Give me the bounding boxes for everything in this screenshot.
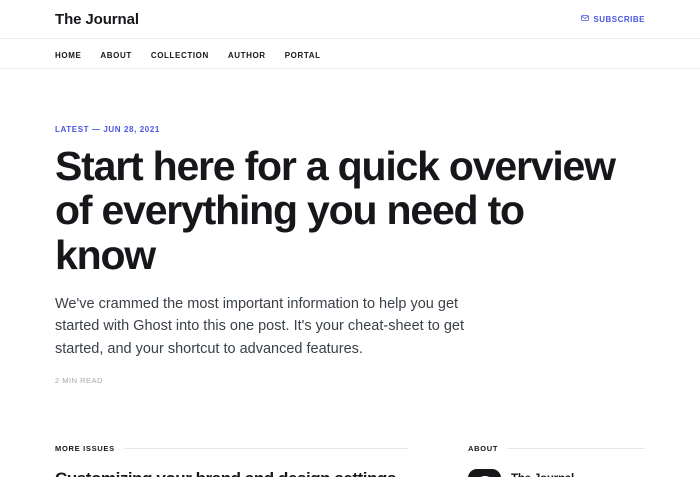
about-label: About — [468, 444, 498, 453]
more-issues-section: More issues Customizing your brand and d… — [55, 444, 408, 477]
post-card-title[interactable]: Customizing your brand and design settin… — [55, 469, 408, 477]
about-sidebar: About The Journal Thoughts, stories and … — [468, 444, 645, 477]
nav-link-author[interactable]: Author — [228, 51, 266, 60]
more-issues-heading: More issues — [55, 444, 408, 453]
featured-post-readtime: 2 min read — [55, 376, 645, 385]
nav-link-portal[interactable]: Portal — [285, 51, 321, 60]
nav-item-collection[interactable]: Collection — [151, 45, 209, 63]
about-identity: The Journal Thoughts, stories and ideas. — [468, 469, 645, 477]
featured-post-kicker[interactable]: Latest — Jun 28, 2021 — [55, 125, 645, 134]
envelope-icon — [581, 14, 589, 24]
nav-item-home[interactable]: Home — [55, 45, 81, 63]
header-subscribe-button[interactable]: Subscribe — [581, 14, 645, 24]
nav-link-collection[interactable]: Collection — [151, 51, 209, 60]
nav-link-home[interactable]: Home — [55, 51, 81, 60]
main-content: Latest — Jun 28, 2021 Start here for a q… — [0, 69, 700, 477]
site-brand-logo[interactable]: The Journal — [55, 12, 139, 27]
nav-link-about[interactable]: About — [100, 51, 131, 60]
featured-post: Latest — Jun 28, 2021 Start here for a q… — [55, 69, 645, 385]
featured-post-excerpt: We've crammed the most important informa… — [55, 293, 475, 360]
featured-post-title[interactable]: Start here for a quick overview of every… — [55, 144, 625, 277]
primary-navigation: Home About Collection Author Portal — [0, 39, 700, 69]
nav-item-author[interactable]: Author — [228, 45, 266, 63]
more-issues-label: More issues — [55, 444, 115, 453]
header-subscribe-label: Subscribe — [593, 15, 645, 24]
nav-list: Home About Collection Author Portal — [55, 45, 321, 63]
nav-item-portal[interactable]: Portal — [285, 45, 321, 63]
section-divider — [507, 448, 645, 449]
about-heading: About — [468, 444, 645, 453]
section-divider — [124, 448, 408, 449]
about-site-name: The Journal — [511, 472, 618, 477]
post-card: Customizing your brand and design settin… — [55, 469, 408, 477]
ghost-logo-icon — [468, 469, 501, 477]
site-header: The Journal Subscribe — [0, 0, 700, 39]
lower-grid: More issues Customizing your brand and d… — [55, 385, 645, 477]
about-text-block: The Journal Thoughts, stories and ideas. — [511, 472, 618, 477]
nav-item-about[interactable]: About — [100, 45, 131, 63]
